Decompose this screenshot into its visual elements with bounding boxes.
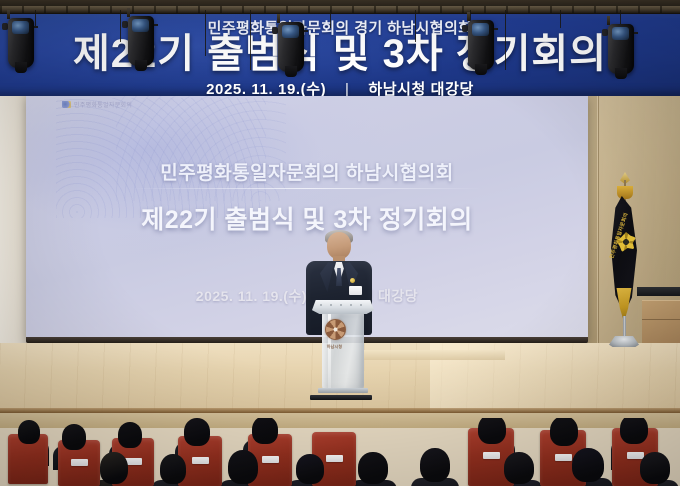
seat-name-card <box>483 452 500 459</box>
audience-member-head <box>504 452 534 484</box>
truss-segment <box>638 6 640 13</box>
spotlight-yoke <box>607 16 610 25</box>
truss-segment <box>594 6 596 13</box>
spotlight-lens <box>612 27 629 40</box>
seat-name-card <box>192 457 209 464</box>
truss-segment <box>572 6 574 13</box>
truss-segment <box>66 6 68 13</box>
truss-segment <box>22 6 24 13</box>
screen-divider <box>132 188 482 189</box>
truss-segment <box>462 6 464 13</box>
audience-member-head <box>252 418 278 444</box>
truss-segment <box>88 6 90 13</box>
hanging-cable <box>250 10 251 70</box>
ceremonial-flag: 민주평화통일자문회의 <box>600 180 648 362</box>
podium-lectern-top <box>312 300 374 314</box>
banner-date-venue: 2025. 11. 19.(수) | 하남시청 대강당 <box>0 78 680 96</box>
truss-segment <box>264 6 266 13</box>
truss-segment <box>176 6 178 13</box>
audience-member-head <box>420 448 450 482</box>
truss-segment <box>418 6 420 13</box>
banner-date: 2025. 11. 19.(수) <box>206 81 326 96</box>
truss-segment <box>484 6 486 13</box>
audience-member-head <box>640 452 670 484</box>
flag-base-rod <box>623 316 626 338</box>
truss-segment <box>396 6 398 13</box>
spotlight-tail <box>475 64 487 75</box>
truss-segment <box>506 6 508 13</box>
truss-segment <box>550 6 552 13</box>
truss-segment <box>374 6 376 13</box>
spotlight-tail <box>135 60 147 71</box>
seat-name-card <box>627 452 644 459</box>
spotlight-yoke <box>7 10 10 19</box>
screen-pattern-b <box>116 96 286 201</box>
speaker-badge-pin <box>350 278 355 283</box>
banner-separator: | <box>331 81 364 96</box>
auditorium-photo: 민주평화통일자문회의 경기 하남시협의회 제22기 출범식 및 3차 정기회의 … <box>0 0 680 486</box>
podium-emblem-icon <box>325 319 346 340</box>
screen-title: 민주평화통일자문회의 하남시협의회 <box>26 158 588 185</box>
organization-logo-icon <box>62 101 71 108</box>
audience-member-head <box>478 418 506 444</box>
speaker-head <box>327 232 351 259</box>
seat-name-card <box>555 454 572 461</box>
screen-watermark-text: 민주평화통일자문회의 <box>74 103 132 109</box>
truss-segment <box>154 6 156 13</box>
hanging-cable <box>560 10 561 28</box>
truss-segment <box>220 6 222 13</box>
spotlight-lens <box>282 25 299 38</box>
truss-segment <box>352 6 354 13</box>
audience-member-head <box>100 452 128 484</box>
overhead-banner: 민주평화통일자문회의 경기 하남시협의회 제22기 출범식 및 3차 정기회의 … <box>0 12 680 96</box>
spotlight-tail <box>15 62 27 73</box>
screen-watermark: 민주평화통일자문회의 <box>62 100 132 109</box>
speaker-name-tag <box>349 286 362 295</box>
audience-member-head <box>62 424 86 450</box>
spotlight-lens <box>472 23 489 36</box>
seat-name-card <box>326 455 343 462</box>
hanging-cable <box>505 10 506 70</box>
audience-member-head <box>160 454 186 484</box>
truss-segment <box>616 6 618 13</box>
audience-member-head <box>550 418 578 446</box>
truss-segment <box>242 6 244 13</box>
lighting-truss <box>0 6 680 13</box>
hanging-cable <box>330 10 331 28</box>
audience-member-head <box>358 452 388 484</box>
spotlight-lens <box>12 21 29 34</box>
podium-base <box>318 388 368 393</box>
podium-label: 하남시청 <box>320 344 349 350</box>
truss-segment <box>286 6 288 13</box>
truss-segment <box>528 6 530 13</box>
spotlight-yoke <box>127 8 130 17</box>
screen-subtitle: 제22기 출범식 및 3차 정기회의 <box>26 200 588 236</box>
seat-name-card <box>262 456 279 463</box>
stage-edge-trim <box>0 408 680 413</box>
audience-member-head <box>18 420 40 444</box>
audience-member-head <box>296 454 324 484</box>
spotlight-yoke <box>467 12 470 21</box>
truss-segment <box>308 6 310 13</box>
truss-segment <box>0 6 2 13</box>
floor-monitor <box>310 395 372 400</box>
truss-segment <box>198 6 200 13</box>
audience-member-head <box>118 422 142 448</box>
banner-title-line: 제22기 출범식 및 3차 정기회의 <box>0 34 680 75</box>
seat-name-card <box>71 459 88 466</box>
audience-member-head <box>572 448 604 482</box>
hanging-cable <box>120 10 121 42</box>
truss-segment <box>440 6 442 13</box>
flag-stand <box>609 336 639 347</box>
audience-member-head <box>620 418 648 444</box>
truss-segment <box>132 6 134 13</box>
spotlight-yoke <box>277 14 280 23</box>
hanging-cable <box>415 10 416 42</box>
podium: 하남시청 <box>312 300 374 392</box>
audience-member-head <box>184 418 210 446</box>
truss-segment <box>44 6 46 13</box>
banner-venue: 하남시청 대강당 <box>368 81 474 96</box>
audience <box>0 418 680 486</box>
hanging-cable <box>205 10 206 56</box>
flag-tassel <box>617 186 633 199</box>
spotlight-tail <box>285 66 297 77</box>
truss-segment <box>660 6 662 13</box>
spotlight-lens <box>132 19 149 32</box>
audience-member-head <box>228 450 258 484</box>
spotlight-tail <box>615 68 627 79</box>
truss-segment <box>110 6 112 13</box>
